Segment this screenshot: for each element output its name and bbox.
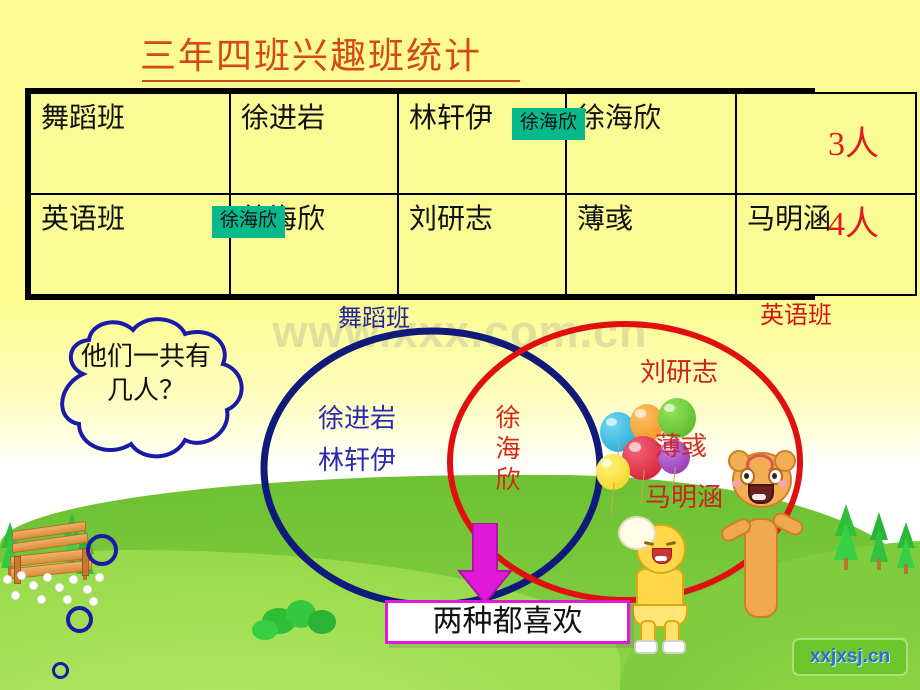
table-cell-student: 刘研志 [398, 194, 566, 295]
venn-name-english-only: 刘研志 [640, 358, 718, 388]
girl-character-icon [622, 520, 702, 650]
thought-trail-circle [86, 534, 118, 566]
venn-names-dance-only: 徐进岩 林轩伊 [318, 398, 396, 482]
venn-label-english: 英语班 [760, 303, 832, 329]
venn-label-dance: 舞蹈班 [338, 306, 410, 332]
table-row: 英语班 徐海欣 刘研志 薄彧 马明涵 [30, 194, 916, 295]
table-row: 舞蹈班 徐进岩 林轩伊 徐海欣 [30, 93, 916, 194]
highlight-label-dance-shared: 徐海欣 [512, 108, 585, 140]
venn-name: 徐进岩 [318, 398, 396, 440]
table-cell-empty [736, 93, 916, 194]
table-cell-student: 徐海欣 [566, 93, 736, 194]
bear-character-icon [718, 452, 802, 632]
highlight-label-english-shared: 徐海欣 [212, 206, 285, 238]
bush-icon [308, 610, 336, 634]
bush-icon [252, 620, 278, 640]
page-title: 三年四班兴趣班统计 [140, 36, 540, 76]
table-cell-student: 薄彧 [566, 194, 736, 295]
venn-name: 林轩伊 [318, 440, 396, 482]
table-cell-class-name: 英语班 [30, 194, 230, 295]
table-cell-class-name: 舞蹈班 [30, 93, 230, 194]
flower-patch-icon [0, 570, 120, 610]
row-count-dance: 3人 [828, 128, 879, 162]
venn-name-english-only: 薄彧 [655, 432, 707, 462]
tree-icon [896, 508, 916, 574]
thought-trail-circle [66, 606, 93, 633]
down-arrow-icon [455, 523, 515, 605]
table-cell-student: 马明涵 [736, 194, 916, 295]
title-underline [142, 80, 520, 82]
table-cell-student: 徐进岩 [230, 93, 398, 194]
answer-callout-box: 两种都喜欢 [385, 600, 630, 644]
slide-canvas: 三年四班兴趣班统计 舞蹈班 徐进岩 林轩伊 徐海欣 英语班 徐海欣 刘研志 薄彧… [0, 0, 920, 690]
venn-names-intersection: 徐海欣 [490, 404, 524, 497]
page-title-text: 三年四班兴趣班统计 [140, 36, 482, 76]
statistics-table: 舞蹈班 徐进岩 林轩伊 徐海欣 英语班 徐海欣 刘研志 薄彧 马明涵 [25, 88, 815, 300]
thought-cloud-text: 他们一共有几人？ [71, 340, 221, 408]
row-count-english: 4人 [828, 208, 879, 242]
venn-name-english-only: 马明涵 [645, 483, 723, 513]
balloon-icon [596, 454, 630, 490]
thought-trail-circle [52, 662, 69, 679]
tree-icon [834, 490, 858, 570]
thought-cloud: 他们一共有几人？ [45, 316, 265, 476]
tree-icon [868, 498, 890, 570]
site-logo: xxjxsj.cn [792, 638, 908, 676]
